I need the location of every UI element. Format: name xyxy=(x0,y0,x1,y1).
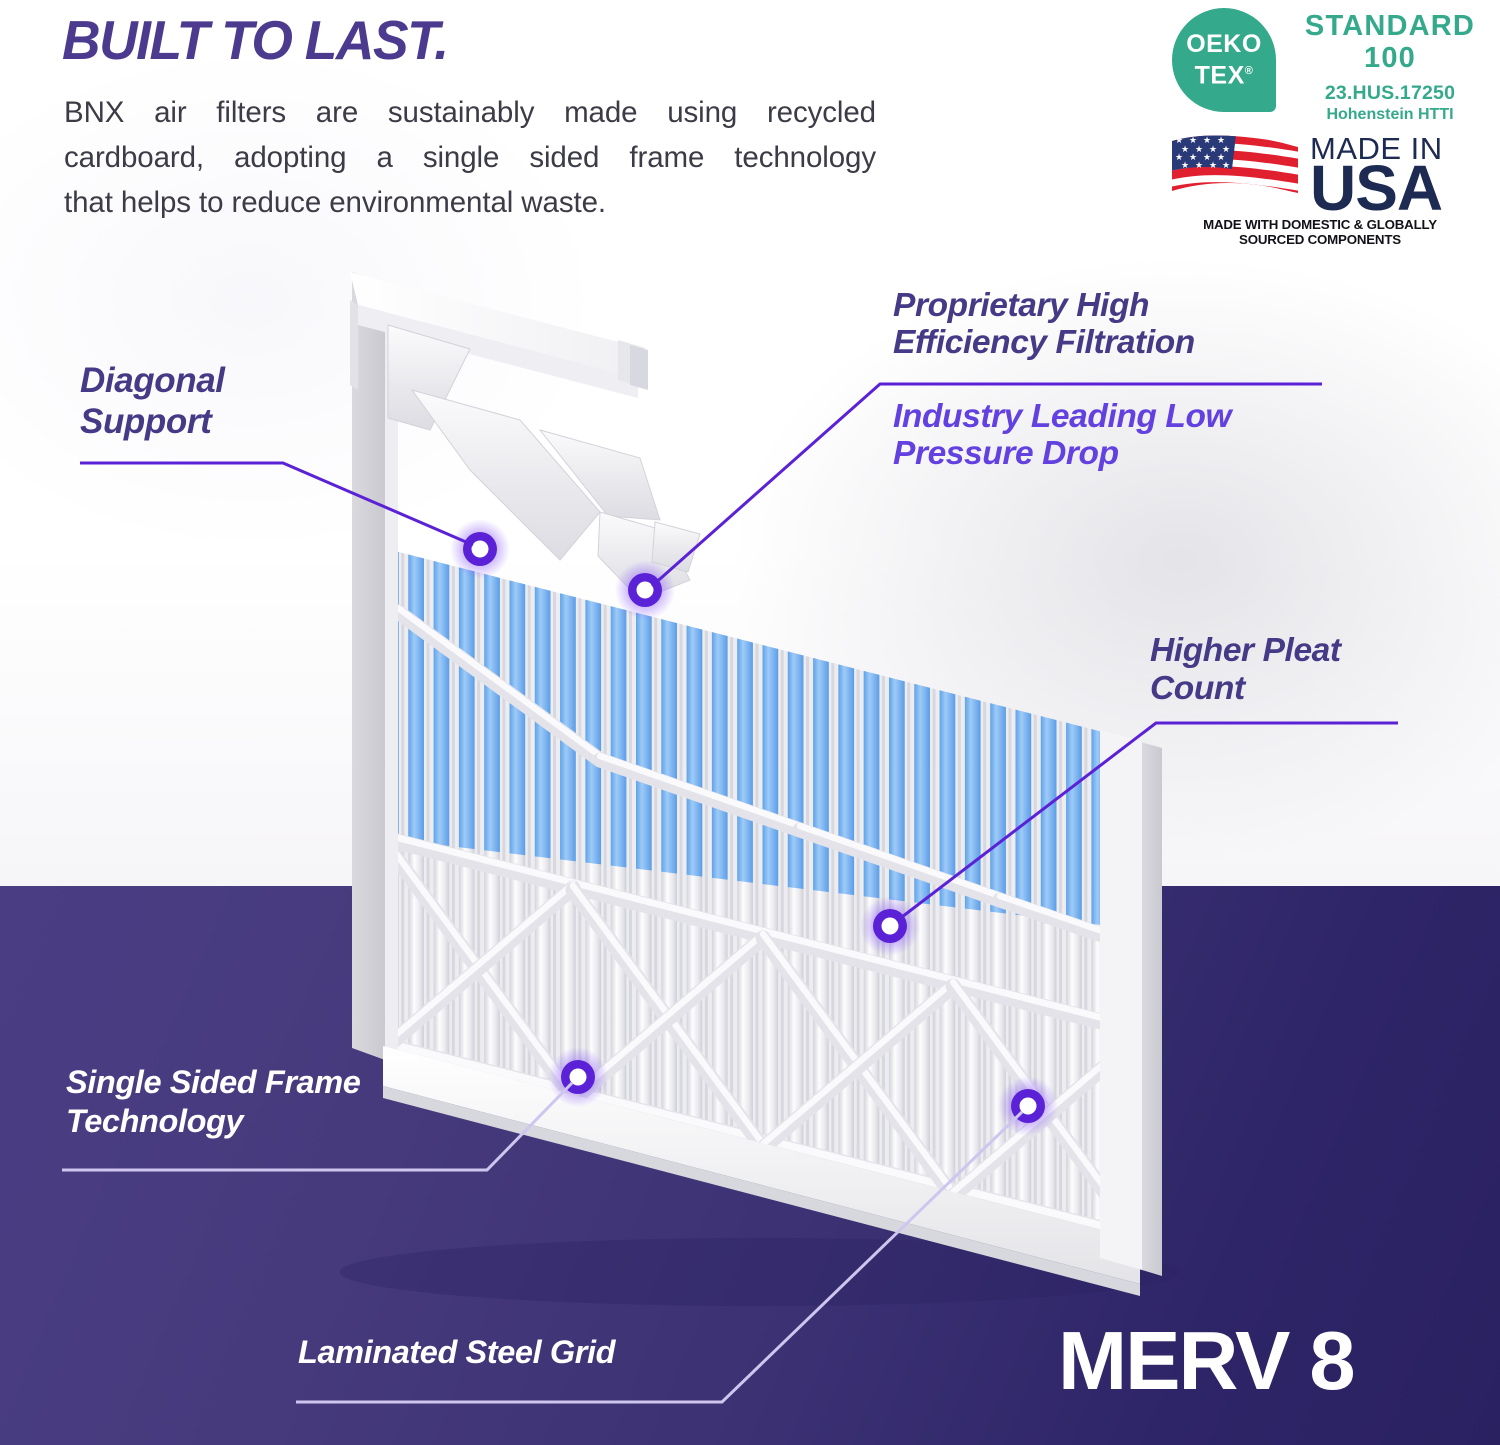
oeko-institute: Hohenstein HTTI xyxy=(1290,106,1490,124)
usa-sourcing-note: MADE WITH DOMESTIC & GLOBALLY SOURCED CO… xyxy=(1170,217,1470,247)
svg-text:★: ★ xyxy=(1181,160,1189,170)
callout-diagonal-support: Diagonal Support xyxy=(80,360,225,442)
callout-single-sided-frame-line1: Single Sided Frame xyxy=(66,1063,360,1102)
callout-higher-pleat-count: Higher Pleat Count xyxy=(1150,632,1341,708)
oeko-tex-details: STANDARD 100 23.HUS.17250 Hohenstein HTT… xyxy=(1290,10,1490,124)
callout-proprietary-filtration-line2: Efficiency Filtration xyxy=(893,324,1195,361)
oeko-tex-logo-icon: OEKO TEX® xyxy=(1172,8,1276,112)
oeko-tex-badge: OEKO TEX® STANDARD 100 23.HUS.17250 Hohe… xyxy=(1172,8,1492,120)
svg-text:★: ★ xyxy=(1209,160,1217,170)
svg-text:★: ★ xyxy=(1195,160,1203,170)
callout-low-pressure-drop: Industry Leading Low Pressure Drop xyxy=(893,398,1231,472)
infographic-canvas: BUILT TO LAST. BNX air filters are susta… xyxy=(0,0,1500,1445)
usa-label: USA xyxy=(1310,157,1442,219)
oeko-logo-line-1: OEKO xyxy=(1186,31,1262,58)
callout-proprietary-filtration-line1: Proprietary High xyxy=(893,287,1195,324)
callout-diagonal-support-line1: Diagonal xyxy=(80,360,225,401)
merv-rating-label: MERV 8 xyxy=(1058,1318,1354,1404)
intro-line-2: cardboard, adopting a single sided frame… xyxy=(64,135,876,180)
oeko-standard-line-1: STANDARD xyxy=(1290,10,1490,42)
oeko-standard-line-2: 100 xyxy=(1290,42,1490,74)
callout-low-pressure-drop-line1: Industry Leading Low xyxy=(893,398,1231,435)
intro-line-3: that helps to reduce environmental waste… xyxy=(64,180,876,225)
callout-laminated-steel-grid: Laminated Steel Grid xyxy=(298,1333,615,1371)
oeko-certificate-number: 23.HUS.17250 xyxy=(1290,82,1490,105)
callout-higher-pleat-count-line2: Count xyxy=(1150,670,1341,708)
callout-low-pressure-drop-line2: Pressure Drop xyxy=(893,435,1231,472)
oeko-logo-line-2: TEX® xyxy=(1195,58,1254,89)
callout-single-sided-frame-line2: Technology xyxy=(66,1102,360,1141)
callout-higher-pleat-count-line1: Higher Pleat xyxy=(1150,632,1341,670)
svg-text:★: ★ xyxy=(1222,160,1230,170)
usa-flag-icon: ★★★★ ★★★★ ★★★★ ★★★★ xyxy=(1170,133,1300,211)
callout-diagonal-support-line2: Support xyxy=(80,401,225,442)
intro-paragraph: BNX air filters are sustainably made usi… xyxy=(64,90,876,225)
callout-laminated-steel-grid-line1: Laminated Steel Grid xyxy=(298,1333,615,1371)
page-title: BUILT TO LAST. xyxy=(62,8,448,72)
callout-proprietary-filtration: Proprietary High Efficiency Filtration xyxy=(893,287,1195,361)
intro-line-1: BNX air filters are sustainably made usi… xyxy=(64,90,876,135)
callout-single-sided-frame: Single Sided Frame Technology xyxy=(66,1063,360,1141)
made-in-usa-badge: ★★★★ ★★★★ ★★★★ ★★★★ MADE IN USA MADE WIT… xyxy=(1170,131,1470,236)
